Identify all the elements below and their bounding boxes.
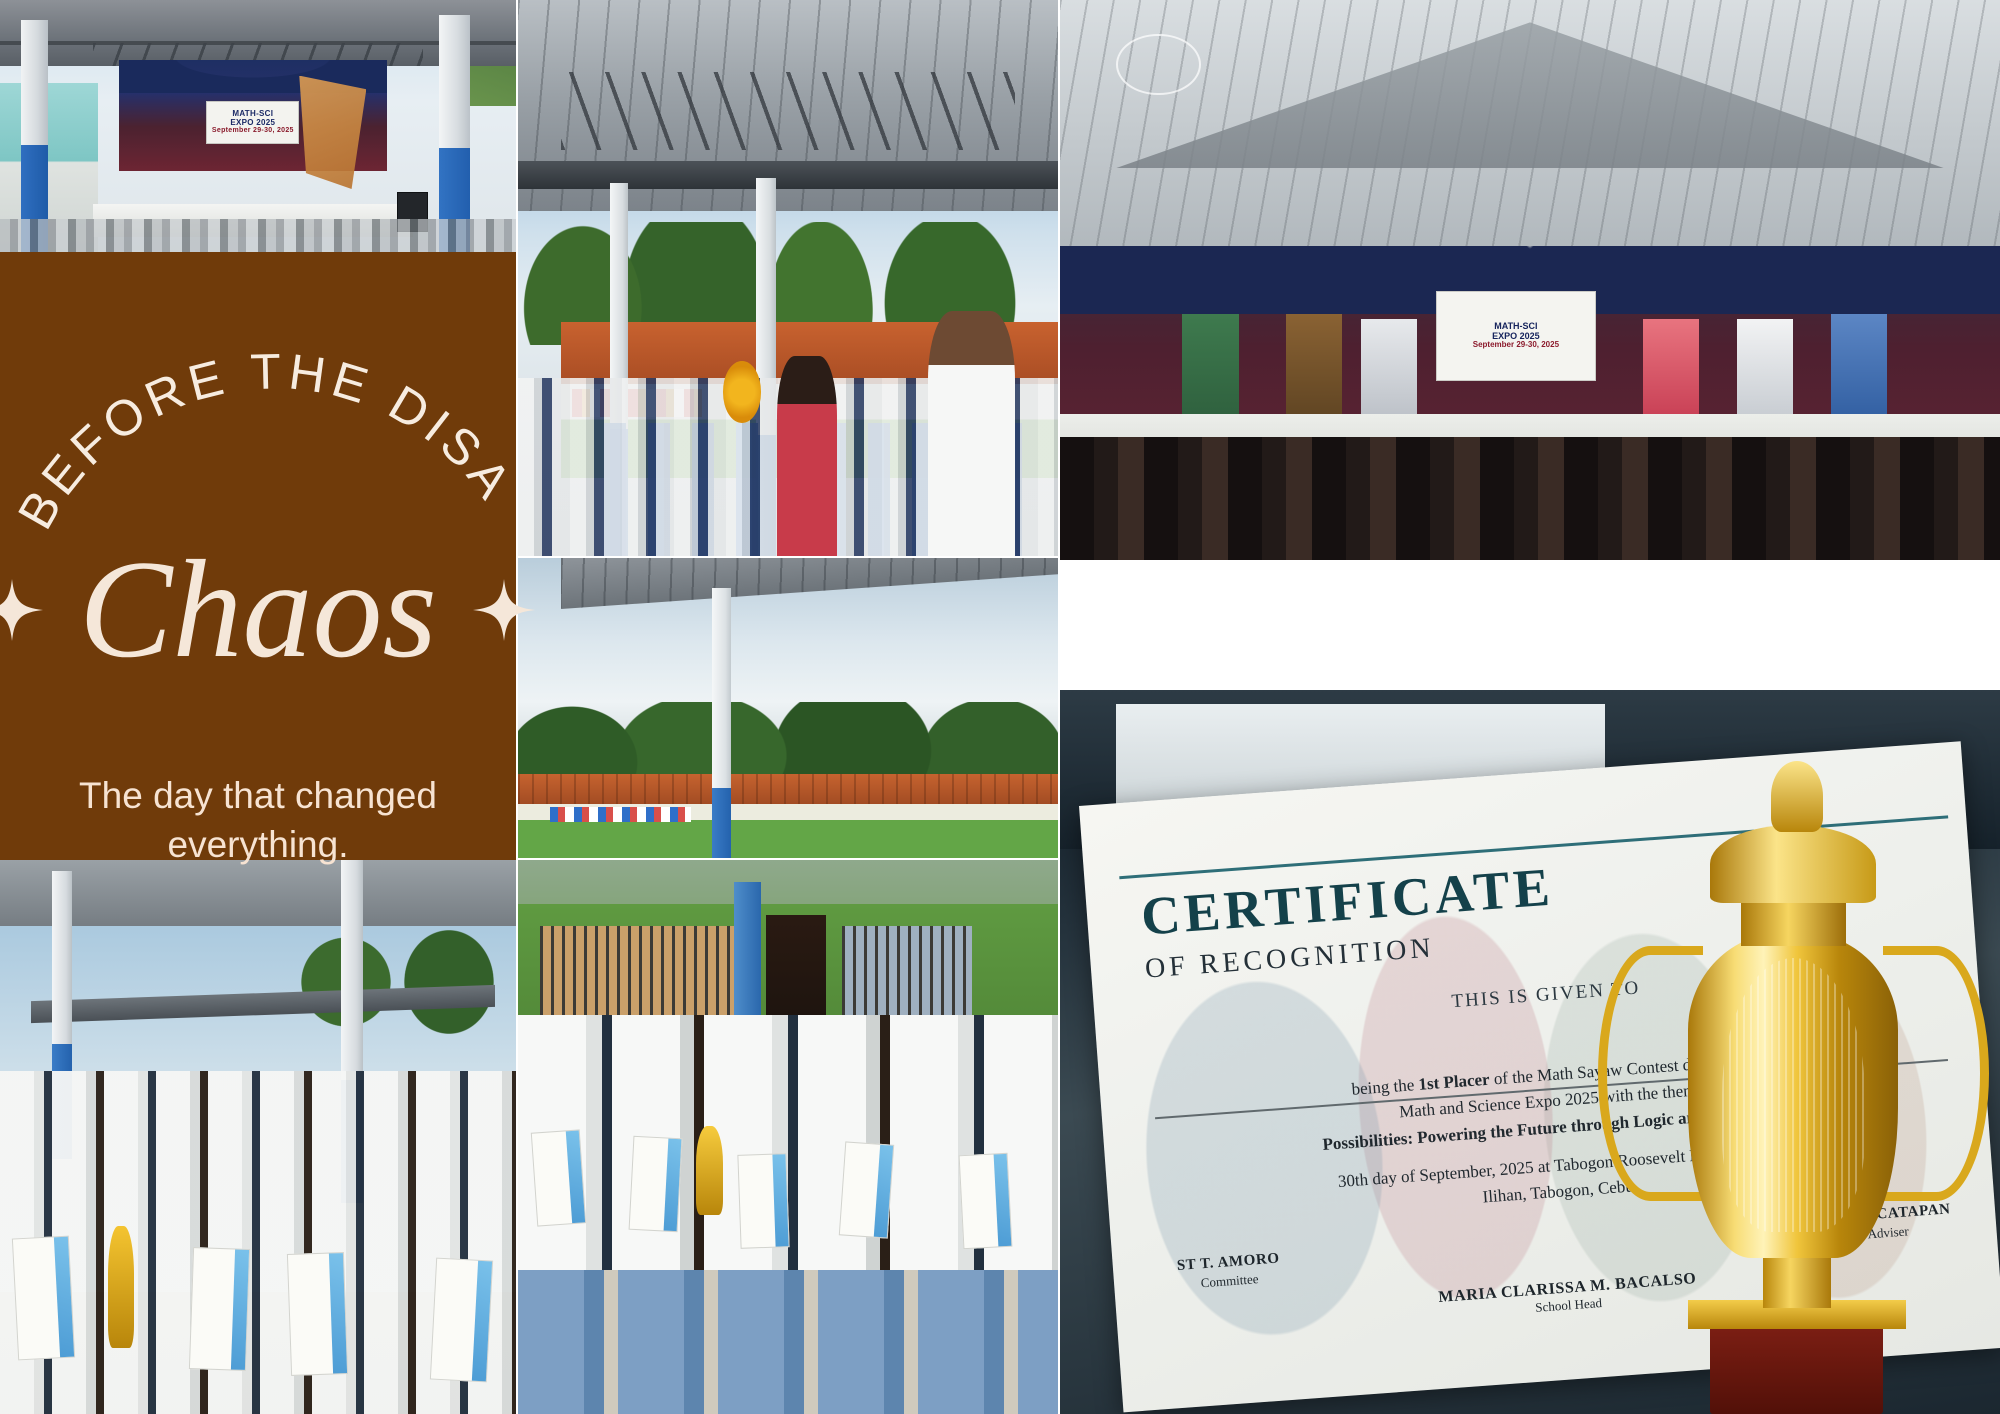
photo-collage: MATH-SCI EXPO 2025 September 29-30, 2025 <box>0 0 2000 1414</box>
title-panel: BEFORE THE DISASTER Chaos The day that c… <box>0 252 516 860</box>
trophy-icon <box>108 1226 134 1348</box>
arc-heading-svg: BEFORE THE DISASTER <box>0 314 516 574</box>
photo-schoolyard-canopy <box>518 0 1058 556</box>
expo-banner-line3: September 29-30, 2025 <box>212 127 294 134</box>
trophy-icon <box>1605 704 1981 1414</box>
expo-banner: MATH-SCI EXPO 2025 September 29-30, 2025 <box>206 101 299 144</box>
expo-banner-line2: EXPO 2025 <box>230 119 275 127</box>
signature-left: ST T. AMORO Committee <box>1176 1248 1281 1293</box>
photo-stage-wide: MATH-SCI EXPO 2025 September 29-30, 2025 <box>0 0 516 252</box>
body-line1-bold: 1st Placer <box>1418 1070 1490 1094</box>
trophy-icon <box>696 1126 723 1215</box>
page-subtitle: The day that changed everything. <box>38 772 478 870</box>
photo-canopy-sky <box>518 558 1058 858</box>
photo-gym-interior: MATH-SCI EXPO 2025 September 29-30, 2025 <box>1060 0 2000 560</box>
arc-heading-wrap: BEFORE THE DISASTER <box>0 314 516 574</box>
body-line1-pre: being the <box>1351 1075 1419 1099</box>
photo-group-certificates <box>0 860 516 1414</box>
sparkle-icon <box>0 579 43 641</box>
arc-heading-text: BEFORE THE DISASTER <box>0 269 525 538</box>
expo-banner-line3: September 29-30, 2025 <box>1473 341 1559 349</box>
photo-boys-certificates <box>518 860 1058 1414</box>
expo-banner: MATH-SCI EXPO 2025 September 29-30, 2025 <box>1436 291 1596 381</box>
sparkle-icon <box>473 579 535 641</box>
photo-certificate-trophy: CERTIFICATE OF RECOGNITION THIS IS GIVEN… <box>1060 690 2000 1414</box>
